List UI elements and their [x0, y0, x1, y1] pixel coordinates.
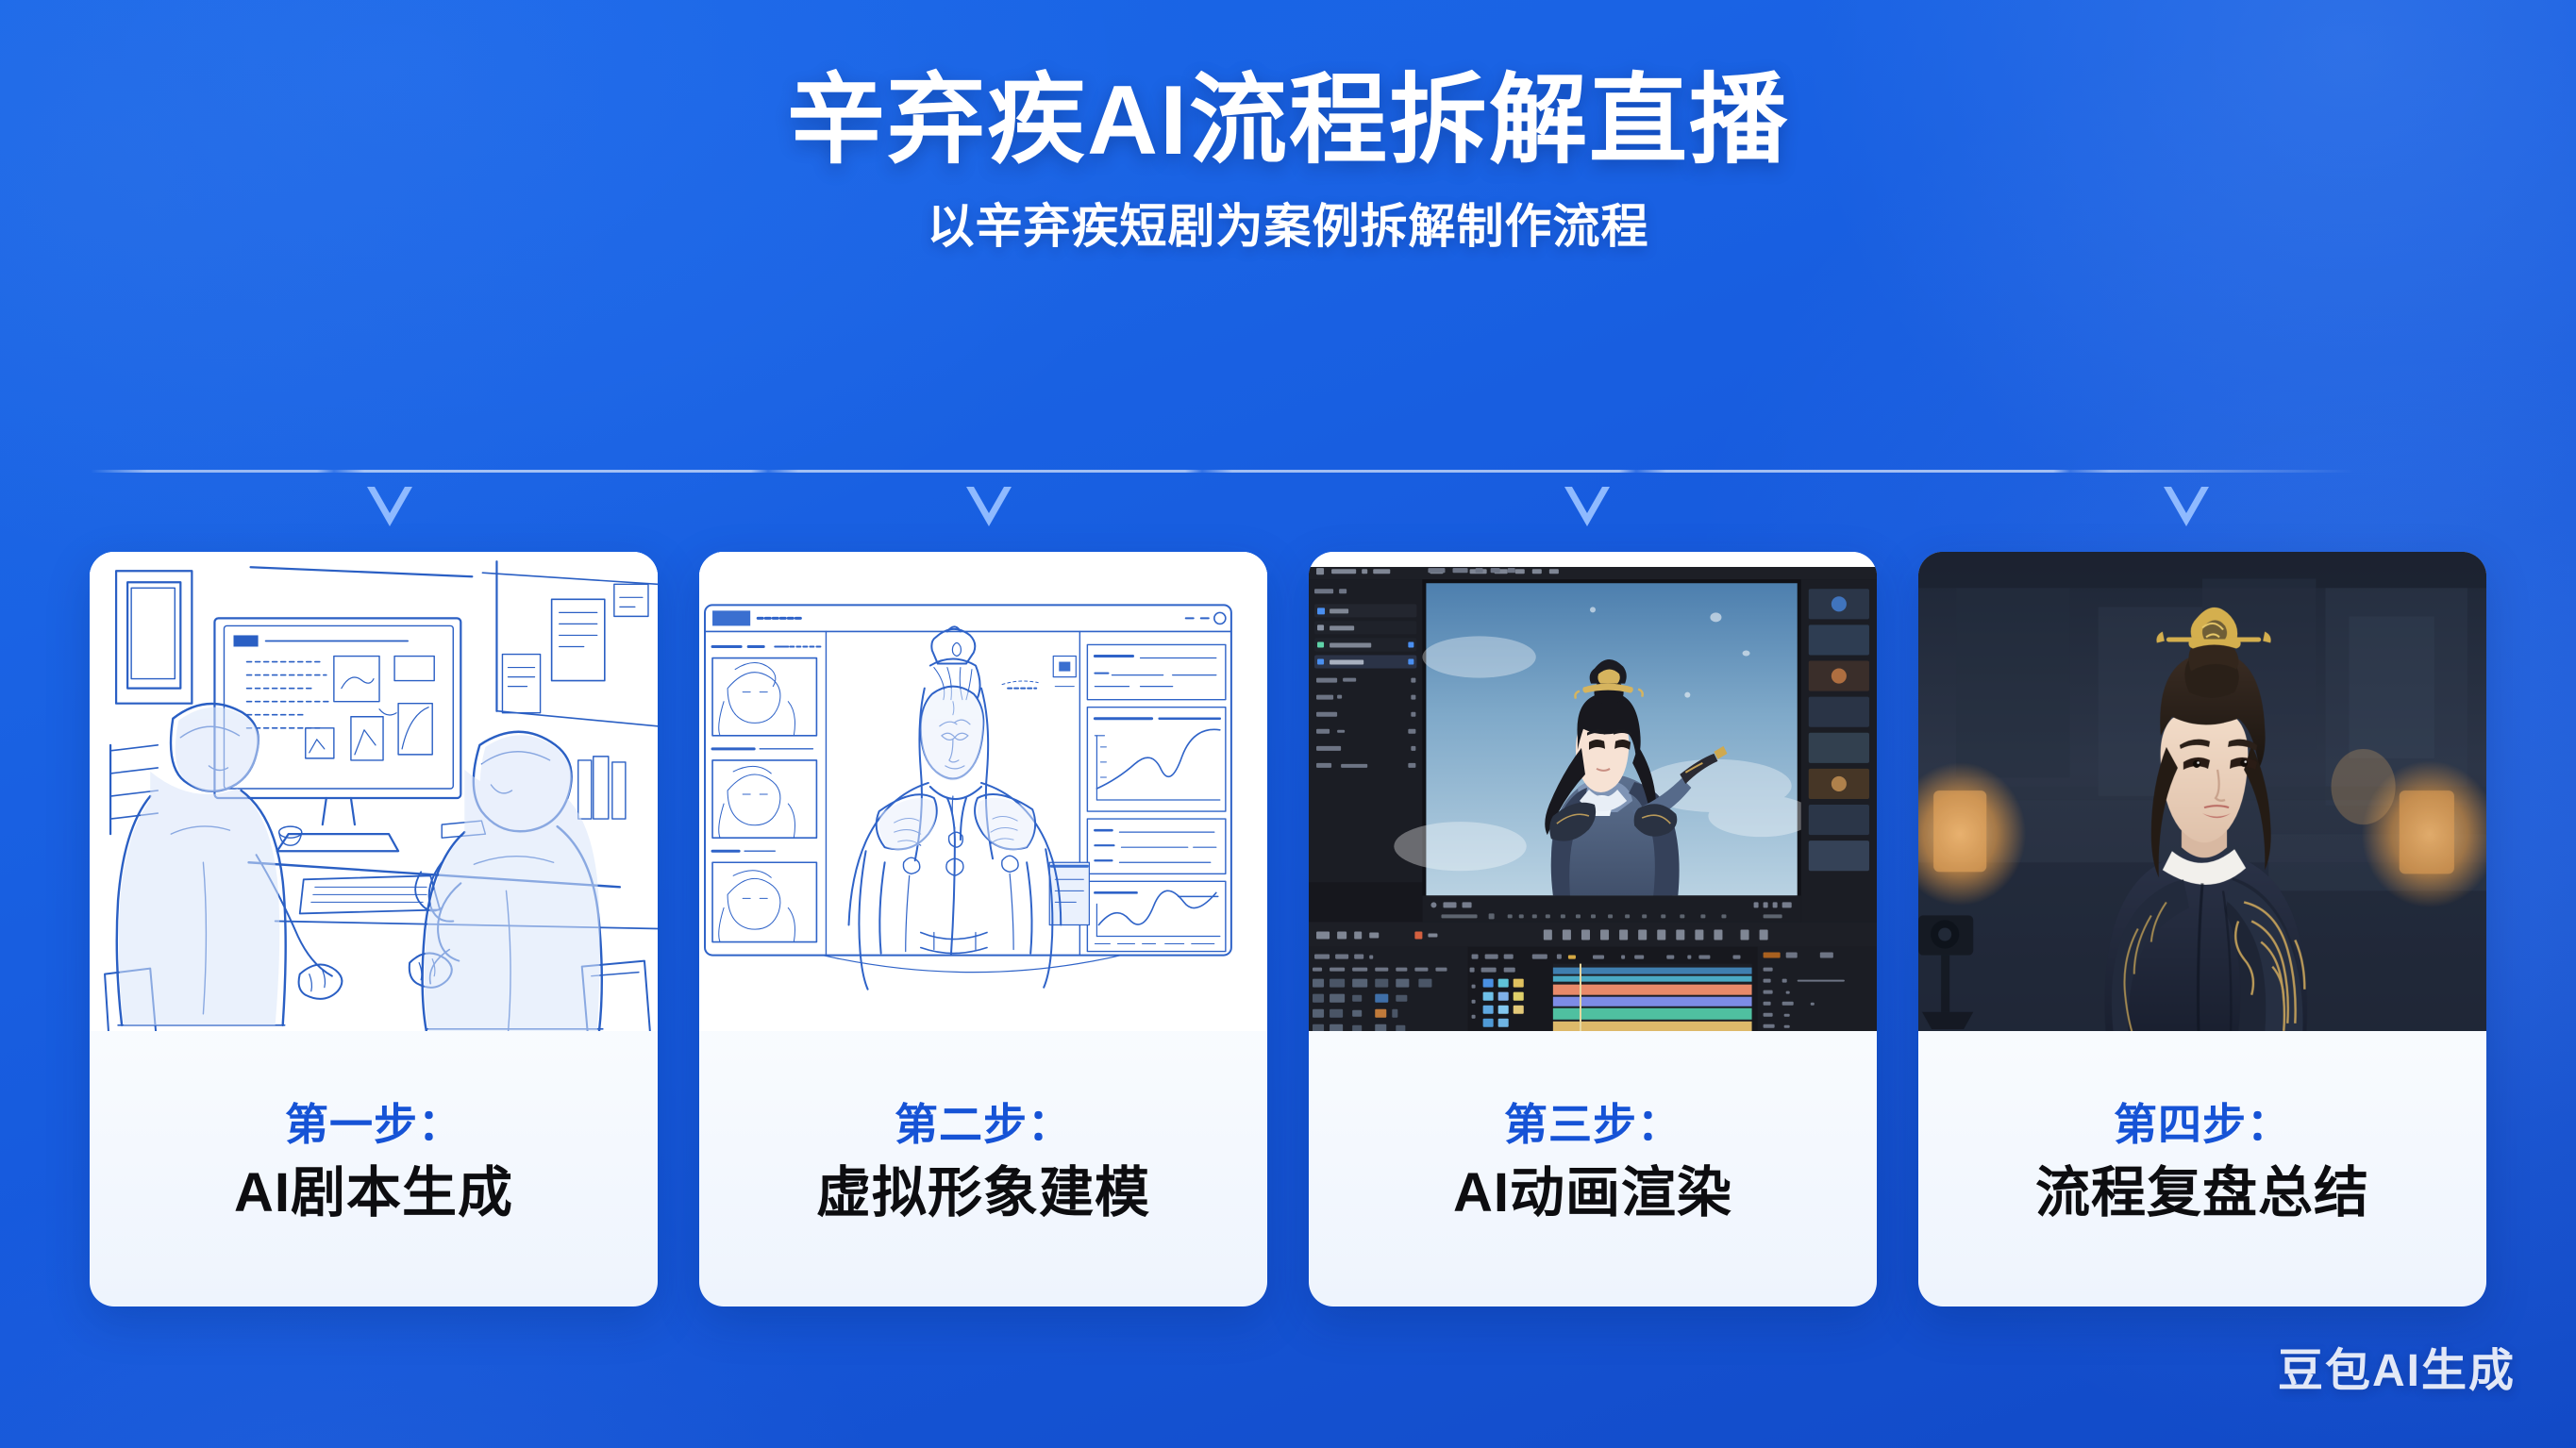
chevron-down-icon [964, 483, 1013, 530]
line-art-character-modeling-ui [699, 552, 1267, 1031]
chevron-row [91, 483, 2485, 558]
watermark: 豆包AI生成 [2278, 1333, 2516, 1399]
header-divider [91, 470, 2485, 473]
video-editor-screenshot [1309, 567, 1877, 1031]
page-subtitle: 以辛弃疾短剧为案例拆解制作流程 [0, 198, 2576, 255]
portrait-photo [1918, 552, 2486, 1031]
chevron-down-icon [365, 483, 414, 530]
chevron-cell-4 [1887, 483, 2486, 558]
chevron-cell-3 [1288, 483, 1887, 558]
step-name: AI剧本生成 [234, 1160, 513, 1226]
step-label: 第四步： [2114, 1099, 2291, 1151]
chevron-down-icon [1563, 483, 1612, 530]
step-card-3-media [1309, 552, 1877, 1031]
step-card-4-caption: 第四步： 流程复盘总结 [1918, 1031, 2486, 1307]
poster-header: 辛弃疾AI流程拆解直播 以辛弃疾短剧为案例拆解制作流程 [0, 68, 2576, 255]
step-name: AI动画渲染 [1453, 1160, 1732, 1226]
step-card-4-media [1918, 552, 2486, 1031]
step-card-1-media [90, 552, 658, 1031]
chevron-cell-1 [91, 483, 690, 558]
step-label: 第一步： [285, 1099, 462, 1151]
step-card-1-caption: 第一步： AI剧本生成 [90, 1031, 658, 1307]
step-name: 虚拟形象建模 [816, 1160, 1150, 1226]
step-card-1[interactable]: 第一步： AI剧本生成 [90, 552, 658, 1307]
line-art-illustration-office [90, 552, 658, 1031]
chevron-cell-2 [690, 483, 1289, 558]
step-card-list: 第一步： AI剧本生成 [90, 552, 2486, 1307]
step-label: 第三步： [1504, 1099, 1681, 1151]
chevron-down-icon [2162, 483, 2211, 530]
step-card-2[interactable]: 第二步： 虚拟形象建模 [699, 552, 1267, 1307]
step-name: 流程复盘总结 [2035, 1160, 2369, 1226]
step-card-3-caption: 第三步： AI动画渲染 [1309, 1031, 1877, 1307]
step-card-2-media [699, 552, 1267, 1031]
step-card-2-caption: 第二步： 虚拟形象建模 [699, 1031, 1267, 1307]
page-title: 辛弃疾AI流程拆解直播 [0, 68, 2576, 174]
step-card-4[interactable]: 第四步： 流程复盘总结 [1918, 552, 2486, 1307]
poster-root: 辛弃疾AI流程拆解直播 以辛弃疾短剧为案例拆解制作流程 [0, 0, 2576, 1448]
step-label: 第二步： [895, 1099, 1072, 1151]
step-card-3[interactable]: 第三步： AI动画渲染 [1309, 552, 1877, 1307]
